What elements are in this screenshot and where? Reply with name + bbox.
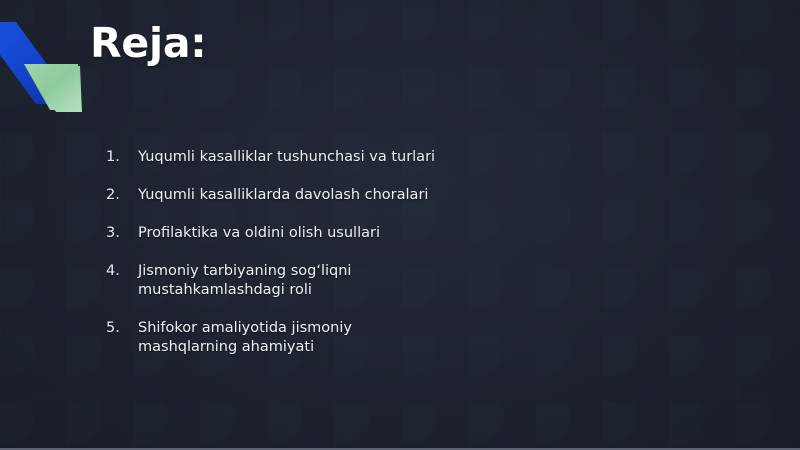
list-item-number: 3. — [106, 224, 138, 243]
list-item-text: Profilaktika va oldini olish usullari — [138, 224, 380, 243]
page-title: Reja: — [90, 21, 207, 66]
agenda-list: 1. Yuqumli kasalliklar tushunchasi va tu… — [106, 148, 526, 357]
list-item-text: Yuqumli kasalliklar tushunchasi va turla… — [138, 148, 435, 167]
list-item-number: 2. — [106, 186, 138, 205]
presentation-slide: Reja: 1. Yuqumli kasalliklar tushunchasi… — [0, 0, 800, 450]
list-item-number: 1. — [106, 148, 138, 167]
list-item-number: 4. — [106, 262, 138, 281]
list-item-text: Shifokor amaliyotida jismoniy mashqlarni… — [138, 319, 438, 357]
list-item-text: Jismoniy tarbiyaning sogʻliqni mustahkam… — [138, 262, 438, 300]
list-item: 2. Yuqumli kasalliklarda davolash choral… — [106, 186, 526, 205]
list-item: 4. Jismoniy tarbiyaning sogʻliqni mustah… — [106, 262, 526, 300]
list-item-text: Yuqumli kasalliklarda davolash choralari — [138, 186, 428, 205]
list-item: 1. Yuqumli kasalliklar tushunchasi va tu… — [106, 148, 526, 167]
list-item: 3. Profilaktika va oldini olish usullari — [106, 224, 526, 243]
list-item: 5. Shifokor amaliyotida jismoniy mashqla… — [106, 319, 526, 357]
list-item-number: 5. — [106, 319, 138, 338]
